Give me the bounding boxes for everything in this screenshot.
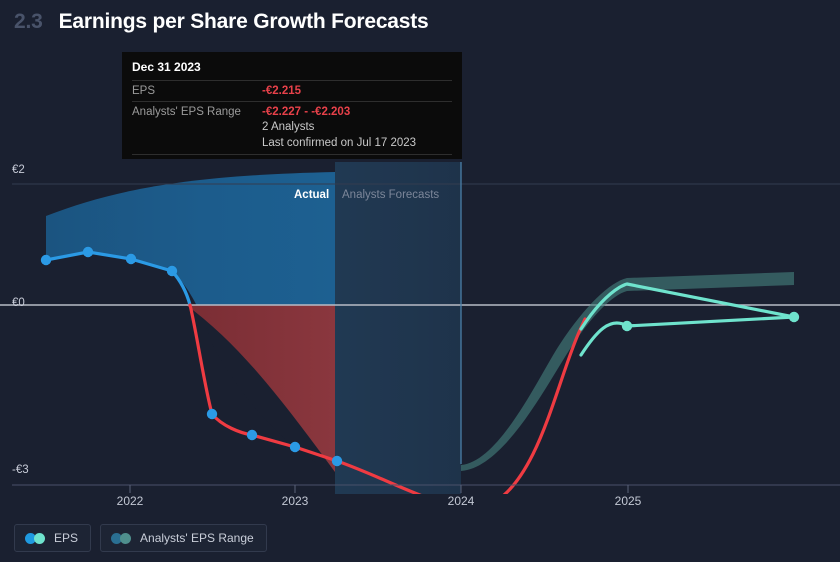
data-point[interactable]: [126, 254, 136, 264]
tooltip-last-confirmed: Last confirmed on Jul 17 2023: [262, 134, 452, 150]
x-tick-label-2022: 2022: [117, 494, 144, 508]
y-tick-label-2: €2: [12, 164, 25, 176]
x-tick-label-2023: 2023: [282, 494, 309, 508]
tooltip-row-range: Analysts' EPS Range -€2.227 - -€2.203 2 …: [132, 102, 452, 155]
forecast-region-tint: [335, 162, 461, 494]
forecast-region-label: Analysts Forecasts: [342, 189, 439, 201]
legend-label-analysts-range: Analysts' EPS Range: [140, 531, 254, 545]
data-point[interactable]: [789, 312, 799, 322]
legend-item-eps[interactable]: EPS: [14, 524, 91, 552]
chart-tooltip: Dec 31 2023 EPS -€2.215 Analysts' EPS Ra…: [122, 52, 462, 159]
x-tick-label-2024: 2024: [448, 494, 475, 508]
x-tick-label-2025: 2025: [615, 494, 642, 508]
page-title: Earnings per Share Growth Forecasts: [59, 10, 429, 34]
data-point[interactable]: [41, 255, 51, 265]
chart-legend: EPS Analysts' EPS Range: [14, 524, 267, 552]
legend-swatch-eps-icon: [25, 533, 46, 544]
analysts-range-band: [461, 272, 794, 471]
data-point[interactable]: [622, 321, 632, 331]
data-point[interactable]: [332, 456, 342, 466]
tooltip-range-label: Analysts' EPS Range: [132, 106, 262, 118]
y-tick-label-neg3: -€3: [12, 464, 29, 476]
tooltip-analysts-count: 2 Analysts: [262, 118, 452, 134]
data-point[interactable]: [167, 266, 177, 276]
tooltip-eps-value: -€2.215: [262, 85, 301, 97]
tooltip-range-value: -€2.227 - -€2.203: [262, 106, 452, 118]
data-point[interactable]: [247, 430, 257, 440]
data-point[interactable]: [207, 409, 217, 419]
legend-label-eps: EPS: [54, 531, 78, 545]
actual-region-label: Actual: [294, 189, 329, 201]
legend-item-analysts-range[interactable]: Analysts' EPS Range: [100, 524, 267, 552]
tooltip-row-eps: EPS -€2.215: [132, 81, 452, 102]
tooltip-eps-label: EPS: [132, 85, 262, 97]
y-tick-label-0: €0: [12, 297, 25, 309]
tooltip-date: Dec 31 2023: [132, 60, 452, 81]
data-point[interactable]: [83, 247, 93, 257]
section-number: 2.3: [14, 10, 43, 34]
chart-page: 2.3 Earnings per Share Growth Forecasts: [0, 0, 840, 562]
data-point[interactable]: [290, 442, 300, 452]
legend-swatch-range-icon: [111, 533, 132, 544]
eps-line-forecast-upper: [581, 317, 794, 355]
page-header: 2.3 Earnings per Share Growth Forecasts: [0, 0, 840, 44]
